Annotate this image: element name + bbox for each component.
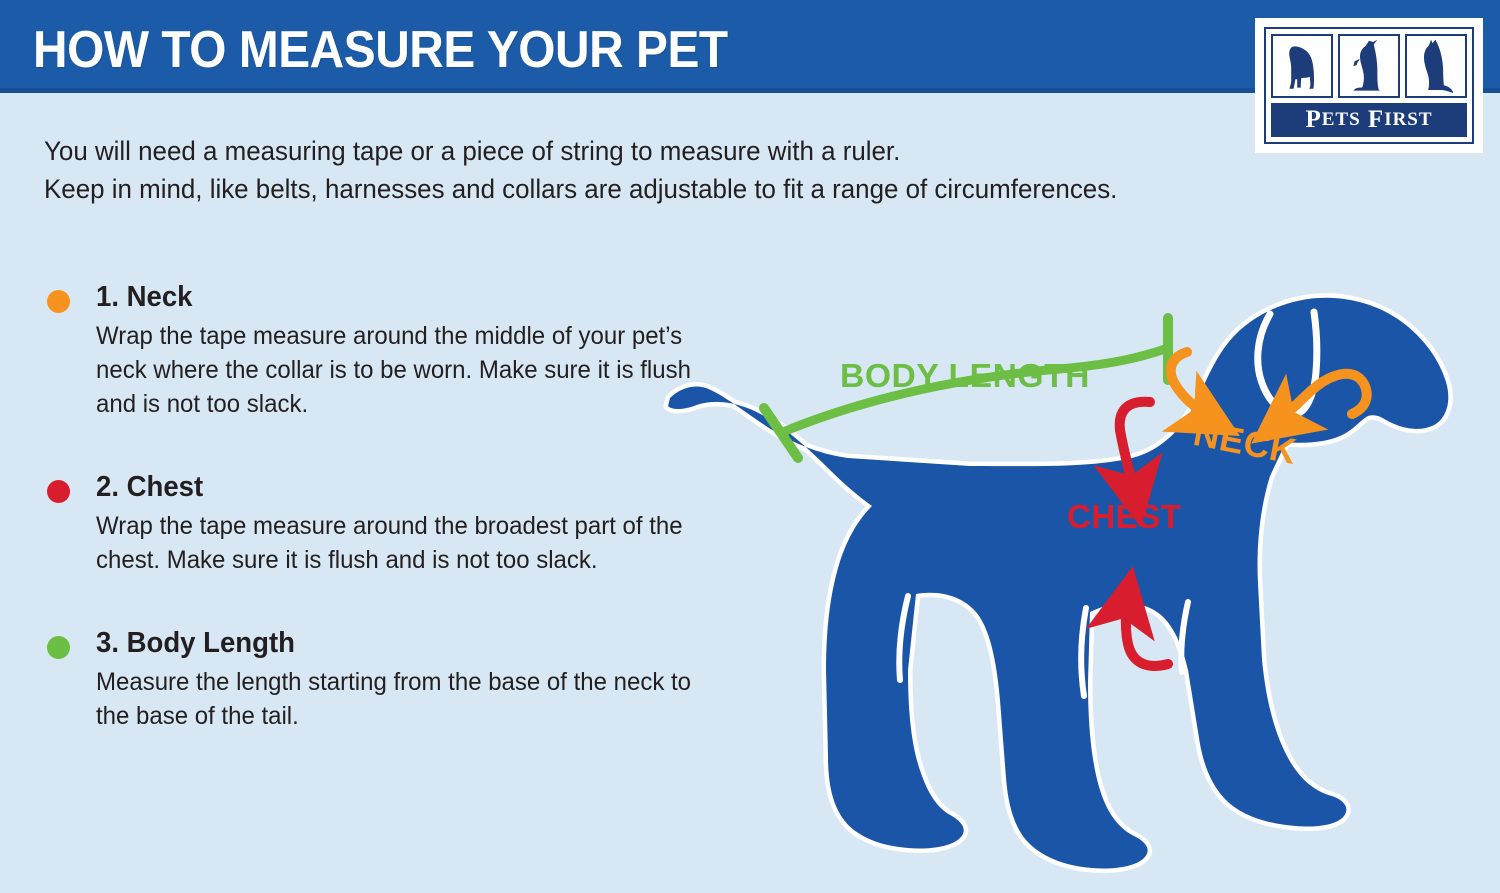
bullet-body-length — [47, 636, 70, 659]
dog-sitting-begging-silhouette-icon — [1338, 34, 1400, 98]
infographic-page: HOW TO MEASURE YOUR PET — [0, 0, 1500, 893]
logo-word-first-cap: F — [1368, 106, 1384, 134]
measurement-steps-list: 1. Neck Wrap the tape measure around the… — [44, 281, 684, 783]
step-3-body: Measure the length starting from the bas… — [96, 665, 691, 733]
dog-measurement-illustration: BODY LENGTH NECK CHEST — [640, 230, 1500, 893]
step-2-heading: 2. Chest — [96, 471, 655, 504]
intro-line-2: Keep in mind, like belts, harnesses and … — [44, 170, 1282, 208]
bullet-chest — [47, 480, 70, 503]
dog-sitting-silhouette-icon — [1405, 34, 1467, 98]
logo-word-first-rest: IRST — [1384, 109, 1432, 131]
intro-line-1: You will need a measuring tape or a piec… — [44, 132, 1282, 170]
page-title: HOW TO MEASURE YOUR PET — [33, 20, 728, 80]
brand-logo: PETS FIRST — [1255, 18, 1483, 153]
step-2-body: Wrap the tape measure around the broades… — [96, 509, 691, 577]
label-body-length: BODY LENGTH — [840, 357, 1090, 395]
list-item-step-2: 2. Chest Wrap the tape measure around th… — [44, 471, 684, 577]
bullet-neck — [47, 290, 70, 313]
step-3-heading: 3. Body Length — [96, 627, 655, 660]
step-1-body: Wrap the tape measure around the middle … — [96, 319, 691, 421]
list-item-step-1: 1. Neck Wrap the tape measure around the… — [44, 281, 684, 421]
step-1-heading: 1. Neck — [96, 281, 655, 314]
dog-standing-silhouette-icon — [1271, 34, 1333, 98]
label-chest: CHEST — [1067, 498, 1181, 536]
logo-frame: PETS FIRST — [1264, 27, 1474, 144]
logo-panel-row — [1271, 34, 1467, 98]
intro-paragraph: You will need a measuring tape or a piec… — [44, 132, 1282, 208]
logo-word-pets-cap: P — [1305, 106, 1321, 134]
logo-word-pets-rest: ETS — [1322, 109, 1361, 131]
logo-wordmark: PETS FIRST — [1271, 103, 1467, 137]
list-item-step-3: 3. Body Length Measure the length starti… — [44, 627, 684, 733]
